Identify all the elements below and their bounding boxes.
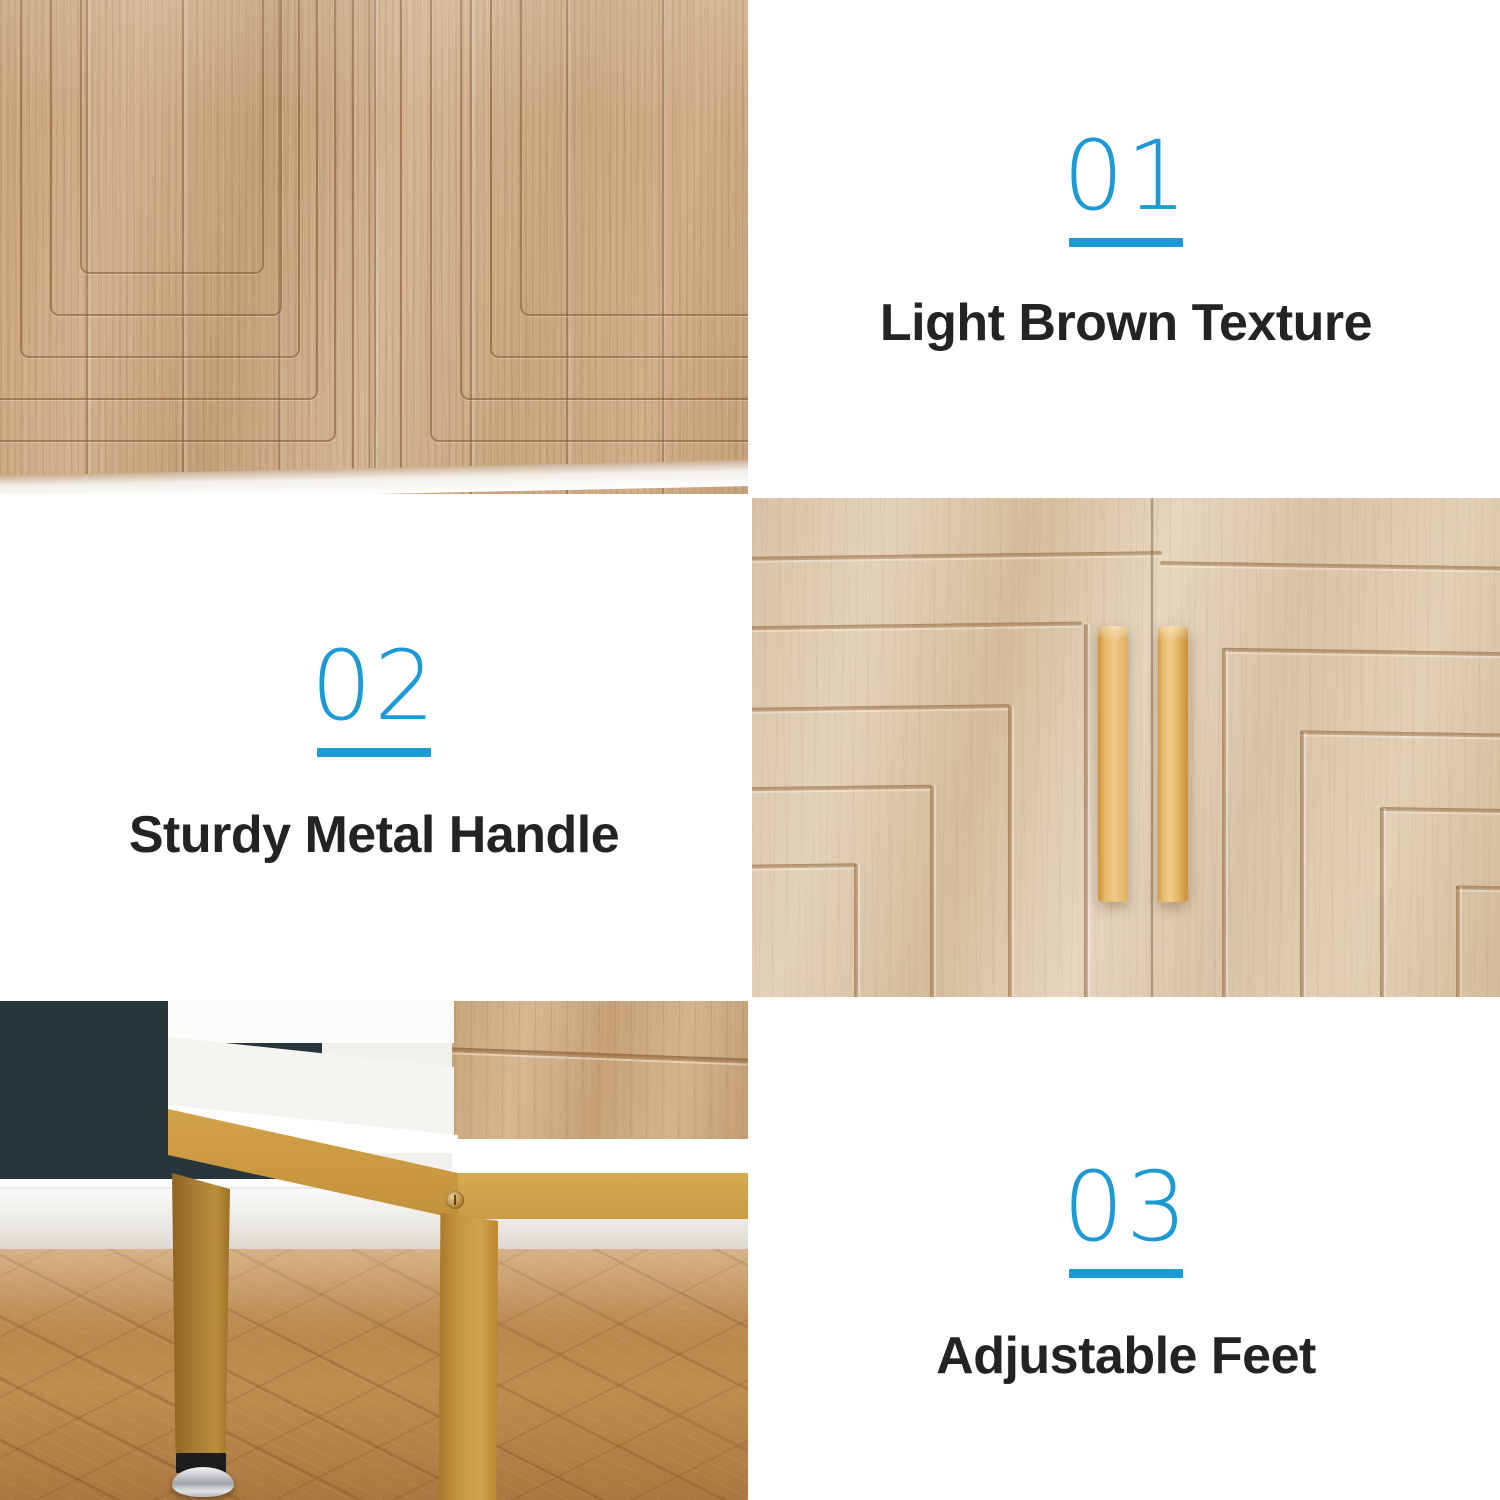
carved-step-line <box>1008 706 1012 997</box>
carved-step-line <box>854 864 858 997</box>
grid-divider-horizontal-2 <box>0 997 1500 1001</box>
top-light-gradient <box>0 0 748 120</box>
carved-step-line <box>1084 624 1088 997</box>
feature-number-underline <box>317 748 431 757</box>
feature-number-underline <box>1069 238 1183 247</box>
cabinet-leg-front[interactable] <box>438 1213 498 1500</box>
text-panel-01: 01 Light Brown Texture <box>752 0 1500 494</box>
handle-highlight <box>1158 626 1188 640</box>
carved-step-line <box>930 786 934 997</box>
feature-number-02: 02 <box>311 638 437 734</box>
feature-caption-02: Sturdy Metal Handle <box>129 805 619 865</box>
cabinet-leg-back[interactable] <box>172 1173 230 1461</box>
cabinet-top-edge <box>168 1001 454 1043</box>
carved-step-line <box>1456 886 1460 997</box>
feature-caption-01: Light Brown Texture <box>880 293 1372 353</box>
adjustable-foot-back[interactable] <box>172 1467 234 1497</box>
parquet-floor <box>0 1249 748 1500</box>
door-handle-left[interactable] <box>1098 626 1128 902</box>
feature-caption-03: Adjustable Feet <box>936 1326 1316 1386</box>
carved-step-line <box>1222 650 1226 997</box>
photo-light-brown-texture <box>0 0 748 494</box>
door-seam <box>1150 498 1154 997</box>
cabinet-bottom-band <box>452 1139 748 1175</box>
door-handle-right[interactable] <box>1158 626 1188 902</box>
cabinet-door-wood <box>452 1001 748 1143</box>
feature-number-underline <box>1069 1269 1183 1278</box>
text-panel-02: 02 Sturdy Metal Handle <box>0 498 748 997</box>
handle-highlight <box>1098 626 1128 640</box>
carved-step-line <box>1380 808 1384 997</box>
photo-sturdy-metal-handle <box>752 498 1500 997</box>
carved-step-line <box>1300 732 1304 997</box>
text-panel-03: 03 Adjustable Feet <box>752 1001 1500 1500</box>
feature-number-03: 03 <box>1063 1159 1189 1255</box>
floor-reflection <box>0 1249 748 1339</box>
grid-divider-horizontal-1 <box>0 494 1500 498</box>
gold-frame-rail-front <box>452 1173 748 1219</box>
grid-divider-vertical <box>748 0 752 1500</box>
frame-screw <box>446 1191 464 1209</box>
feature-number-01: 01 <box>1063 128 1189 224</box>
product-feature-infographic: 01 Light Brown Texture 02 Sturdy Metal H… <box>0 0 1500 1500</box>
photo-adjustable-feet <box>0 1001 748 1500</box>
wood-grain-texture <box>452 1001 748 1143</box>
